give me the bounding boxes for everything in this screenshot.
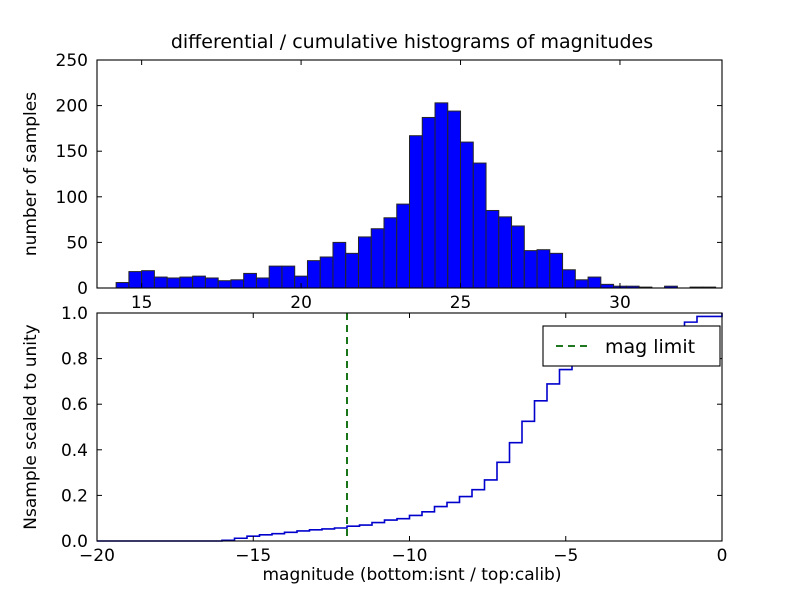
- histogram-bar: [116, 283, 129, 288]
- histogram-bar: [371, 229, 384, 288]
- bottom-y-ticklabel: 1.0: [61, 304, 88, 324]
- histogram-bar: [358, 237, 371, 288]
- histogram-bar: [269, 266, 282, 288]
- top-x-ticklabel: 30: [609, 293, 631, 313]
- histogram-bar: [180, 277, 193, 288]
- histogram-bar: [218, 281, 231, 288]
- top-y-ticklabel: 100: [56, 188, 88, 208]
- histogram-bar: [333, 242, 346, 288]
- histogram-bar: [397, 204, 410, 288]
- bottom-y-ticklabel: 0.4: [61, 441, 88, 461]
- bottom-x-ticklabel: 0: [717, 546, 728, 566]
- histogram-bar: [448, 111, 461, 288]
- bottom-y-ticklabel: 0.2: [61, 486, 88, 506]
- histogram-bar: [410, 136, 423, 288]
- chart-title: differential / cumulative histograms of …: [171, 31, 653, 53]
- top-y-ticklabel: 50: [66, 233, 88, 253]
- histogram-bar: [193, 276, 206, 288]
- legend[interactable]: mag limit: [543, 326, 720, 366]
- histogram-bar: [473, 163, 486, 288]
- histogram-bar: [512, 226, 525, 288]
- top-x-ticklabel: 20: [290, 293, 312, 313]
- histogram-bar: [256, 278, 269, 288]
- top-x-ticklabel: 25: [450, 293, 472, 313]
- bottom-y-axis-label: Nsample scaled to unity: [21, 324, 41, 529]
- histogram-bar: [499, 217, 512, 288]
- histogram-bar: [486, 210, 499, 288]
- top-y-ticklabel: 0: [77, 279, 88, 299]
- figure-background: [0, 0, 800, 600]
- histogram-bar: [320, 257, 333, 288]
- bottom-x-ticklabel: −5: [553, 546, 578, 566]
- histogram-bar: [129, 272, 142, 288]
- histogram-bar: [282, 266, 295, 288]
- top-x-ticklabel: 15: [131, 293, 153, 313]
- histogram-bar: [244, 273, 257, 288]
- x-axis-label: magnitude (bottom:isnt / top:calib): [263, 565, 562, 585]
- histogram-bar: [537, 250, 550, 288]
- histogram-bar: [422, 117, 435, 288]
- histogram-bar: [205, 278, 218, 288]
- histogram-bar: [575, 280, 588, 288]
- histogram-bar: [167, 278, 180, 288]
- histogram-bar: [524, 251, 537, 288]
- bottom-x-ticklabel: −10: [392, 546, 428, 566]
- bottom-y-ticklabel: 0.6: [61, 395, 88, 415]
- histogram-bar: [142, 271, 155, 288]
- histogram-bar: [384, 218, 397, 288]
- histogram-bar: [435, 103, 448, 288]
- figure-canvas: differential / cumulative histograms of …: [0, 0, 800, 600]
- bottom-y-ticklabel: 0.8: [61, 350, 88, 370]
- bottom-x-ticklabel: −15: [235, 546, 271, 566]
- top-y-ticklabel: 250: [56, 51, 88, 71]
- histogram-bar: [154, 277, 167, 288]
- chart-svg: differential / cumulative histograms of …: [0, 0, 800, 600]
- histogram-bar: [550, 253, 563, 288]
- bottom-y-ticklabel: 0.0: [61, 532, 88, 552]
- histogram-bar: [231, 280, 244, 288]
- top-y-ticklabel: 200: [56, 97, 88, 117]
- histogram-bar: [563, 270, 576, 288]
- top-y-ticklabel: 150: [56, 142, 88, 162]
- histogram-bar: [461, 142, 474, 288]
- histogram-bar: [346, 253, 359, 288]
- histogram-bar: [307, 261, 320, 288]
- legend-label-mag-limit: mag limit: [605, 336, 695, 358]
- histogram-bar: [588, 277, 601, 288]
- top-y-axis-label: number of samples: [21, 92, 41, 256]
